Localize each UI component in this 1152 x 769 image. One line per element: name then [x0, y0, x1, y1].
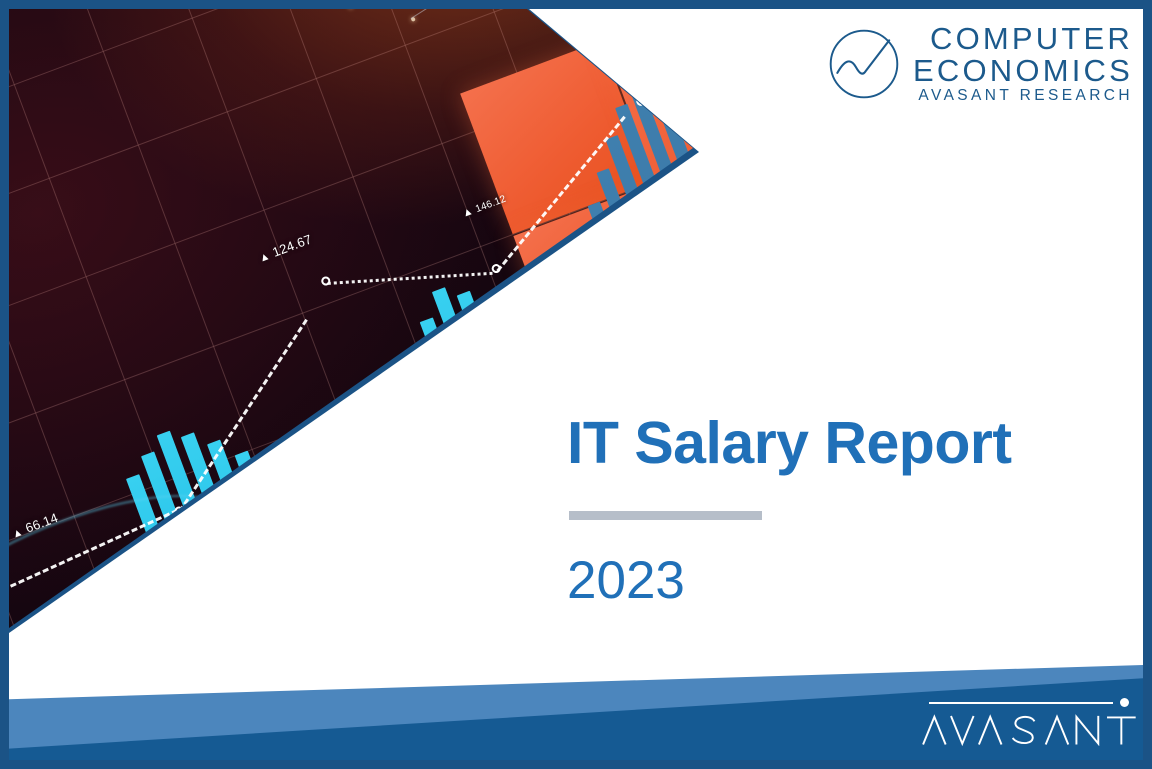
- title-block: IT Salary Report 2023: [567, 414, 1087, 607]
- data-label-value: 4.58: [672, 11, 690, 25]
- logo-wordmark: COMPUTER ECONOMICS AVASANT RESEARCH: [913, 23, 1133, 105]
- up-triangle-icon: ▲: [603, 55, 618, 70]
- logo-line-computer: COMPUTER: [930, 23, 1133, 55]
- up-triangle-icon: ▲: [659, 15, 674, 30]
- up-triangle-icon: ▲: [679, 117, 694, 132]
- data-label-value: 415.23: [617, 47, 644, 64]
- page-title: IT Salary Report: [567, 414, 1087, 473]
- chart-photo-content: ▲ 66.14 ▲ 124.67 ▲ 146.12 ▲ 415.23: [9, 9, 991, 760]
- title-divider: [569, 511, 762, 520]
- logo-line-avasant-research: AVASANT RESEARCH: [918, 87, 1133, 105]
- avasant-logo: [921, 698, 1129, 746]
- slide-canvas: ▲ 66.14 ▲ 124.67 ▲ 146.12 ▲ 415.23: [9, 9, 1143, 760]
- computer-economics-logo: COMPUTER ECONOMICS AVASANT RESEARCH: [827, 23, 1133, 105]
- avasant-rule: [921, 698, 1129, 708]
- avasant-wordmark: [921, 712, 1143, 746]
- data-label-value: 485.25: [693, 109, 720, 126]
- report-year: 2023: [567, 554, 1087, 607]
- logo-line-economics: ECONOMICS: [913, 55, 1133, 87]
- avasant-dot-icon: [1120, 698, 1129, 707]
- footer: [9, 665, 1143, 760]
- circle-trendline-icon: [827, 27, 901, 101]
- bar-series: [9, 9, 991, 760]
- page-frame: ▲ 66.14 ▲ 124.67 ▲ 146.12 ▲ 415.23: [0, 0, 1152, 769]
